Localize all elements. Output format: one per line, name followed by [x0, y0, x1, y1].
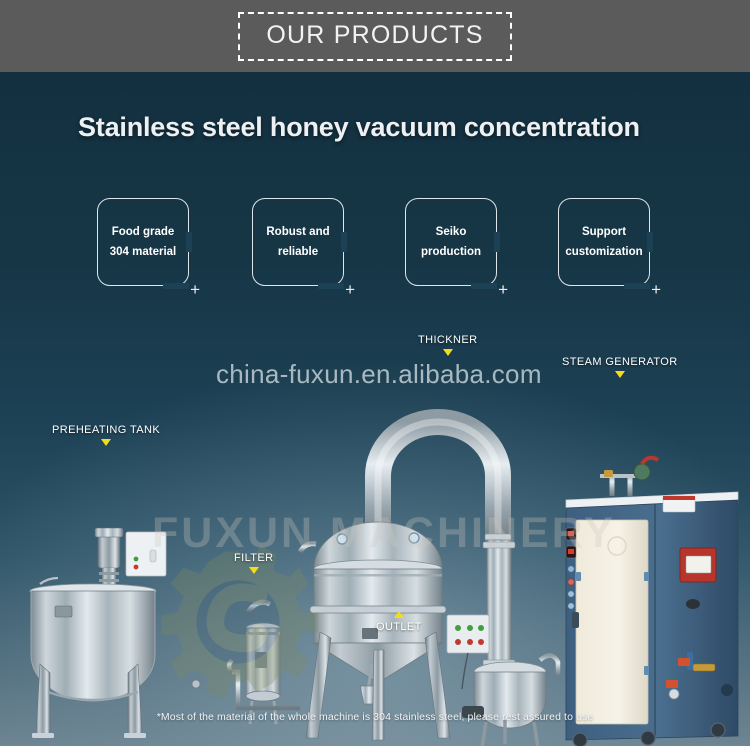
- label-preheating-tank: PREHEATING TANK: [52, 424, 160, 436]
- marker-triangle-down-icon: [249, 567, 259, 574]
- equipment-illustration: [0, 72, 750, 746]
- marker-triangle-up-icon: [394, 611, 404, 618]
- marker-triangle-down-icon: [443, 349, 453, 356]
- hero-stage: Stainless steel honey vacuum concentrati…: [0, 72, 750, 746]
- label-steam-generator: STEAM GENERATOR: [562, 356, 678, 368]
- footer-note: *Most of the material of the whole machi…: [0, 711, 750, 723]
- filter-graphic: [229, 602, 300, 724]
- label-text: FILTER: [234, 552, 273, 564]
- label-text: THICKNER: [418, 334, 477, 346]
- our-products-badge: OUR PRODUCTS: [238, 12, 511, 61]
- preheating-tank-graphic: [30, 528, 250, 738]
- label-text: PREHEATING TANK: [52, 424, 160, 436]
- label-text: STEAM GENERATOR: [562, 356, 678, 368]
- our-products-label: OUR PRODUCTS: [266, 23, 483, 48]
- label-thickner: THICKNER: [418, 334, 477, 346]
- product-banner: OUR PRODUCTS Stainless steel honey vacuu…: [0, 0, 750, 746]
- header-band: OUR PRODUCTS: [0, 0, 750, 72]
- label-text: OUTLET: [376, 621, 422, 633]
- label-outlet: OUTLET: [376, 621, 422, 633]
- label-filter: FILTER: [234, 552, 273, 564]
- marker-triangle-down-icon: [615, 371, 625, 378]
- steam-generator-graphic: [566, 458, 738, 746]
- marker-triangle-down-icon: [101, 439, 111, 446]
